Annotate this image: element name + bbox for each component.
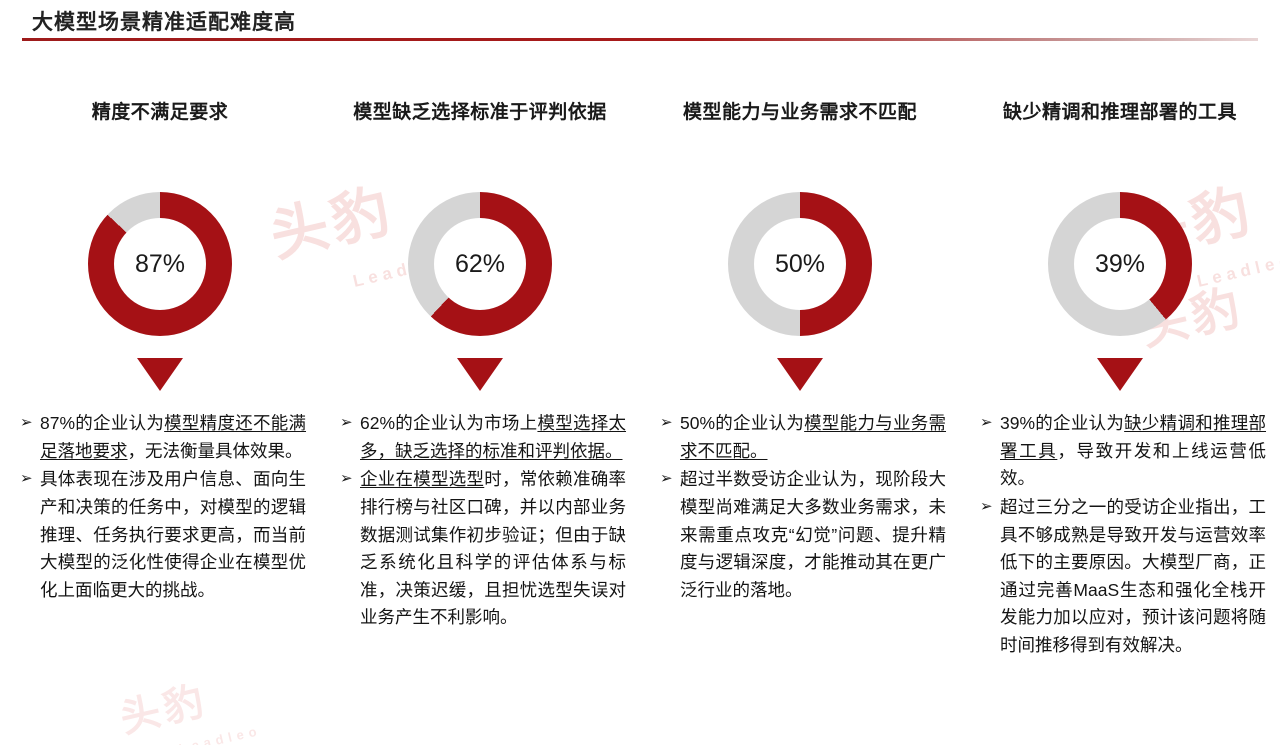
- list-item: ➢具体表现在涉及用户信息、面向生产和决策的任务中，对模型的逻辑推理、任务执行要求…: [20, 466, 306, 604]
- list-item-text: 87%的企业认为模型精度还不能满足落地要求，无法衡量具体效果。: [40, 410, 306, 465]
- list-item-text: 企业在模型选型时，常依赖准确率排行榜与社区口碑，并以内部业务数据测试集作初步验证…: [360, 466, 626, 632]
- down-triangle-icon: [777, 358, 823, 391]
- list-item: ➢62%的企业认为市场上模型选择太多，缺乏选择的标准和评判依据。: [340, 410, 626, 465]
- donut-value-label: 62%: [455, 250, 505, 279]
- title-divider: [22, 38, 1258, 41]
- page-title: 大模型场景精准适配难度高: [32, 6, 296, 36]
- columns-container: 精度不满足要求 87% ➢87%的企业认为模型精度还不能满足落地要求，无法衡量具…: [0, 96, 1280, 661]
- list-item-text: 39%的企业认为缺少精调和推理部署工具，导致开发和上线运营低效。: [1000, 410, 1266, 493]
- bullet-arrow-icon: ➢: [340, 466, 360, 492]
- column-header: 缺少精调和推理部署的工具: [960, 96, 1280, 130]
- donut-ring: 87%: [88, 192, 232, 336]
- list-item: ➢39%的企业认为缺少精调和推理部署工具，导致开发和上线运营低效。: [980, 410, 1266, 493]
- list-item: ➢87%的企业认为模型精度还不能满足落地要求，无法衡量具体效果。: [20, 410, 306, 465]
- down-triangle-icon: [457, 358, 503, 391]
- donut-center: 50%: [754, 218, 846, 310]
- donut-chart-4: 39%: [960, 130, 1280, 410]
- list-item: ➢企业在模型选型时，常依赖准确率排行榜与社区口碑，并以内部业务数据测试集作初步验…: [340, 466, 626, 632]
- bullet-list-4: ➢39%的企业认为缺少精调和推理部署工具，导致开发和上线运营低效。➢超过三分之一…: [960, 410, 1280, 660]
- bullet-arrow-icon: ➢: [340, 410, 360, 436]
- list-item-text: 超过三分之一的受访企业指出，工具不够成熟是导致开发与运营效率低下的主要原因。大模…: [1000, 494, 1266, 660]
- list-item-text: 50%的企业认为模型能力与业务需求不匹配。: [680, 410, 946, 465]
- donut-chart-1: 87%: [0, 130, 320, 410]
- down-triangle-icon: [1097, 358, 1143, 391]
- list-item-text: 超过半数受访企业认为，现阶段大模型尚难满足大多数业务需求，未来需重点攻克“幻觉”…: [680, 466, 946, 604]
- list-item: ➢超过半数受访企业认为，现阶段大模型尚难满足大多数业务需求，未来需重点攻克“幻觉…: [660, 466, 946, 604]
- column-header: 模型能力与业务需求不匹配: [640, 96, 960, 130]
- column-header: 模型缺乏选择标准于评判依据: [320, 96, 640, 130]
- slide-root: 头豹 Leadleo 头豹 Leadleo 头豹 头豹 Leadleo 大模型场…: [0, 0, 1280, 745]
- watermark-logo: 头豹: [117, 681, 212, 740]
- watermark-sublabel: Leadleo: [178, 724, 263, 745]
- column-3: 模型能力与业务需求不匹配 50% ➢50%的企业认为模型能力与业务需求不匹配。➢…: [640, 96, 960, 661]
- donut-chart-3: 50%: [640, 130, 960, 410]
- donut-ring: 50%: [728, 192, 872, 336]
- bullet-list-2: ➢62%的企业认为市场上模型选择太多，缺乏选择的标准和评判依据。➢企业在模型选型…: [320, 410, 640, 632]
- bullet-list-1: ➢87%的企业认为模型精度还不能满足落地要求，无法衡量具体效果。➢具体表现在涉及…: [0, 410, 320, 604]
- bullet-arrow-icon: ➢: [20, 410, 40, 436]
- column-4: 缺少精调和推理部署的工具 39% ➢39%的企业认为缺少精调和推理部署工具，导致…: [960, 96, 1280, 661]
- bullet-arrow-icon: ➢: [980, 410, 1000, 436]
- column-2: 模型缺乏选择标准于评判依据 62% ➢62%的企业认为市场上模型选择太多，缺乏选…: [320, 96, 640, 661]
- donut-value-label: 50%: [775, 250, 825, 279]
- bullet-arrow-icon: ➢: [20, 466, 40, 492]
- bullet-arrow-icon: ➢: [980, 494, 1000, 520]
- list-item: ➢超过三分之一的受访企业指出，工具不够成熟是导致开发与运营效率低下的主要原因。大…: [980, 494, 1266, 660]
- list-item: ➢50%的企业认为模型能力与业务需求不匹配。: [660, 410, 946, 465]
- bullet-arrow-icon: ➢: [660, 410, 680, 436]
- donut-value-label: 39%: [1095, 250, 1145, 279]
- donut-center: 39%: [1074, 218, 1166, 310]
- donut-center: 87%: [114, 218, 206, 310]
- list-item-text: 具体表现在涉及用户信息、面向生产和决策的任务中，对模型的逻辑推理、任务执行要求更…: [40, 466, 306, 604]
- bullet-list-3: ➢50%的企业认为模型能力与业务需求不匹配。➢超过半数受访企业认为，现阶段大模型…: [640, 410, 960, 604]
- donut-ring: 62%: [408, 192, 552, 336]
- column-header: 精度不满足要求: [0, 96, 320, 130]
- column-1: 精度不满足要求 87% ➢87%的企业认为模型精度还不能满足落地要求，无法衡量具…: [0, 96, 320, 661]
- donut-value-label: 87%: [135, 250, 185, 279]
- list-item-text: 62%的企业认为市场上模型选择太多，缺乏选择的标准和评判依据。: [360, 410, 626, 465]
- slide-header: 大模型场景精准适配难度高: [0, 0, 1280, 42]
- bullet-arrow-icon: ➢: [660, 466, 680, 492]
- down-triangle-icon: [137, 358, 183, 391]
- donut-ring: 39%: [1048, 192, 1192, 336]
- donut-chart-2: 62%: [320, 130, 640, 410]
- donut-center: 62%: [434, 218, 526, 310]
